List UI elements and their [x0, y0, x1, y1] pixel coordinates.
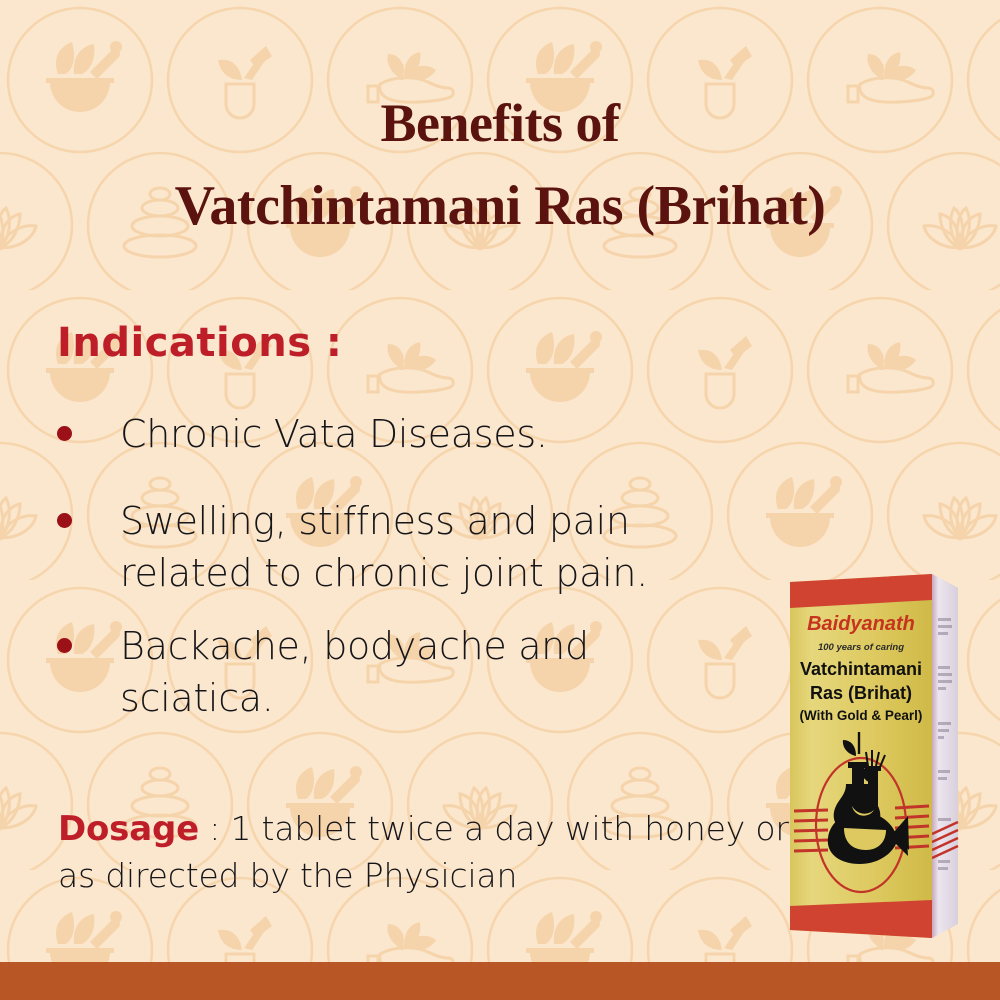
product-name-line2: Ras (Brihat) — [810, 683, 912, 703]
indications-heading: Indications : — [57, 320, 342, 366]
bullet-dot-icon — [57, 638, 72, 653]
product-box-image: Baidyanath 100 years of caring Vatchinta… — [782, 570, 1000, 945]
dosage-block: Dosage : 1 tablet twice a day with honey… — [58, 805, 818, 900]
list-item-label: Chronic Vata Diseases. — [120, 408, 548, 460]
bottom-accent-bar — [0, 962, 1000, 1000]
box-bottom-band — [790, 900, 932, 938]
list-item-label: Swelling, stiffness and pain related to … — [120, 495, 648, 600]
dosage-label: Dosage — [58, 809, 199, 849]
bullet-dot-icon — [57, 513, 72, 528]
dosage-separator: : — [199, 809, 231, 848]
product-name-line1: Vatchintamani — [800, 659, 922, 679]
product-name-line3: (With Gold & Pearl) — [800, 708, 923, 723]
brand-wordmark: Baidyanath — [807, 613, 915, 635]
list-item: Swelling, stiffness and pain related to … — [57, 495, 648, 600]
list-item-label: Backache, bodyache and sciatica. — [120, 620, 589, 725]
poster-title-line-2: Vatchintamani Ras (Brihat) — [0, 178, 1000, 234]
list-item: Chronic Vata Diseases. — [57, 408, 548, 460]
list-item: Backache, bodyache and sciatica. — [57, 620, 589, 725]
bullet-dot-icon — [57, 426, 72, 441]
poster-canvas: Benefits of Vatchintamani Ras (Brihat) I… — [0, 0, 1000, 1000]
poster-title-line-1: Benefits of — [0, 96, 1000, 150]
box-side-panel — [932, 574, 958, 938]
brand-tagline: 100 years of caring — [818, 642, 904, 653]
